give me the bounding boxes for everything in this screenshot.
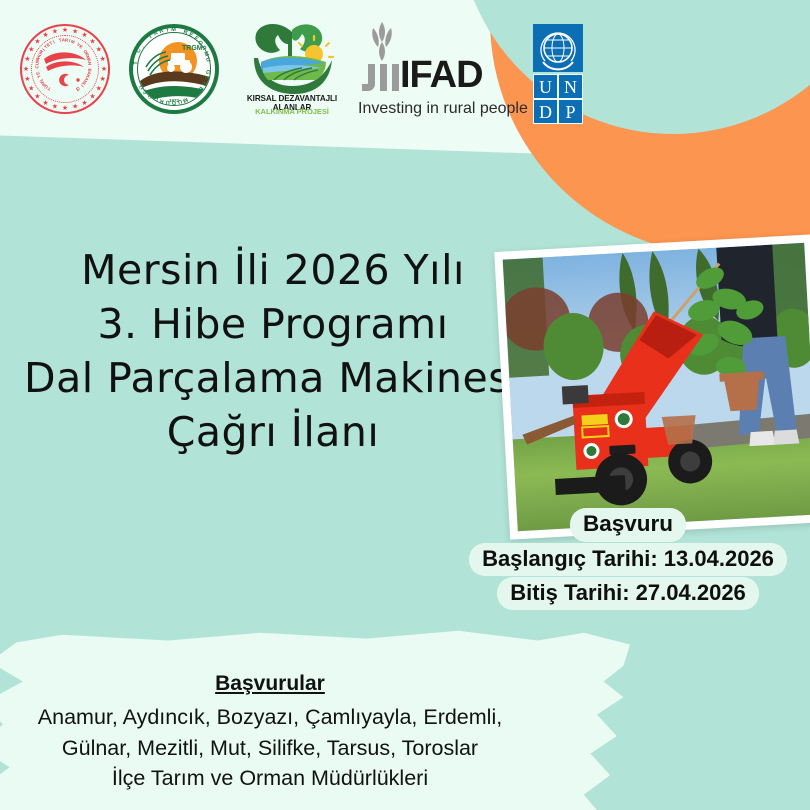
poster-title: Mersin İli 2026 Yılı 3. Hibe Programı Da… [8,243,538,459]
logo-ministry-of-agriculture: ★★★★★★★★★★★★★★★★★★★★★★★★ TÜRKİYE CUMHURİ… [12,18,120,118]
poster-canvas: ★★★★★★★★★★★★★★★★★★★★★★★★ TÜRKİYE CUMHURİ… [0,0,810,810]
ifad-wordmark: IFAD [400,56,483,94]
logo-kdakp: KIRSAL DEZAVANTAJLI ALANLAR KALKINMA PRO… [228,18,356,123]
dates-end: Bitiş Tarihi: 27.04.2026 [497,577,759,610]
logo-trgm: TRGM T.C. TARIM REFORMU GENEL MÜDÜRLÜĞÜ … [120,18,228,118]
applications-line-1: Anamur, Aydıncık, Bozyazı, Çamlıyayla, E… [0,702,540,733]
applications-title: Başvurular [0,672,540,696]
logo-undp: U N D P [516,18,596,123]
undp-letter-u: U [533,74,558,99]
photo-wood-chipper [516,308,714,510]
title-line-2: 3. Hibe Programı [8,297,538,351]
applications-line-3: İlçe Tarım ve Orman Müdürlükleri [0,763,540,794]
ifad-tagline: Investing in rural people [358,100,528,118]
dates-start: Başlangıç Tarihi: 13.04.2026 [469,543,787,576]
un-emblem-icon [533,24,583,72]
undp-letter-n: N [558,74,583,99]
wood-chipper-photo [503,243,810,531]
title-line-1: Mersin İli 2026 Yılı [8,243,538,297]
dates-heading: Başvuru [570,508,686,542]
photo-person [716,244,799,448]
wood-chipper-photo-frame [494,234,810,539]
photo-foreground [503,243,810,531]
plant-sun-field-icon [228,18,356,96]
ministry-flag-crescent-icon [42,51,88,87]
title-line-4: Çağrı İlanı [8,405,538,459]
title-line-3: Dal Parçalama Makinesi [8,351,538,405]
application-dates: Başvuru Başlangıç Tarihi: 13.04.2026 Bit… [452,508,804,611]
applications-line-2: Gülnar, Mezitli, Mut, Silifke, Tarsus, T… [0,733,540,764]
logo-row: ★★★★★★★★★★★★★★★★★★★★★★★★ TÜRKİYE CUMHURİ… [12,18,612,118]
applications-section: Başvurular Anamur, Aydıncık, Bozyazı, Ça… [0,672,540,794]
trgm-year-label: 1972 [120,98,228,103]
kdakp-line-2: KALKINMA PROJESİ [228,107,356,116]
logo-ifad: IFAD Investing in rural people [356,18,516,123]
undp-letter-d: D [533,99,558,124]
undp-letter-p: P [558,99,583,124]
